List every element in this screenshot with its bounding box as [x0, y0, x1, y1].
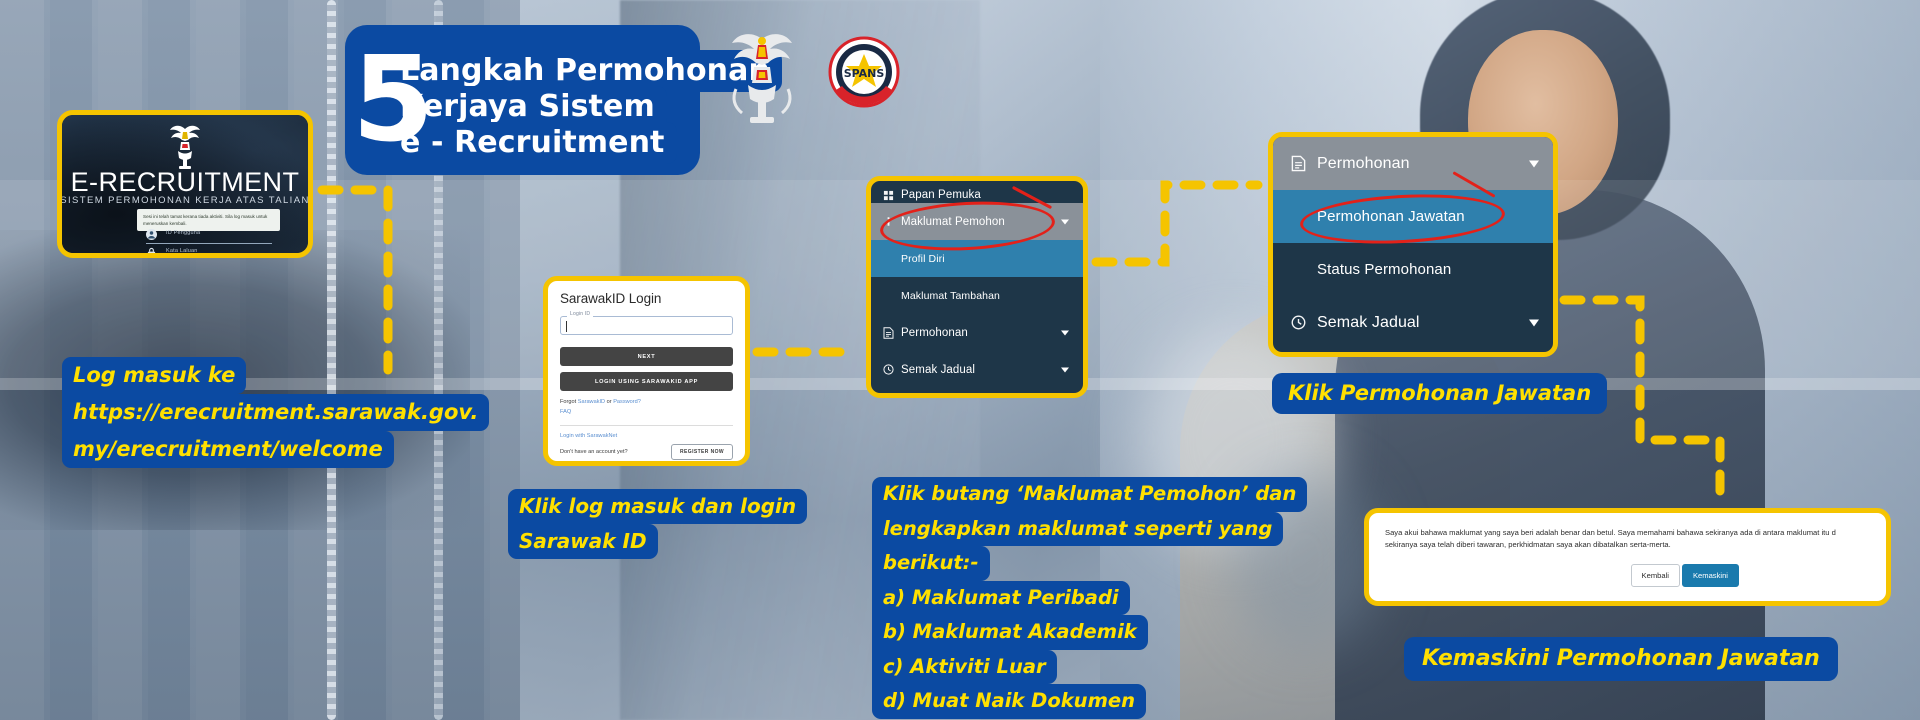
chevron-down-icon — [1061, 219, 1069, 224]
menu-label: Profil Diri — [883, 253, 945, 265]
dashboard-icon — [883, 190, 901, 201]
menu-label: Maklumat Tambahan — [883, 290, 1000, 302]
menu-label: Status Permohonan — [1291, 261, 1451, 278]
caption-step-3: Klik butang ‘Maklumat Pemohon’ dan lengk… — [872, 477, 1307, 719]
erec-password-field[interactable]: Kata Laluan — [146, 246, 272, 258]
menu-item-permohonan-jawatan[interactable]: Permohonan Jawatan — [1273, 190, 1553, 243]
header-title-line-3: e - Recruitment — [400, 122, 677, 164]
no-account-text: Don't have an account yet? — [560, 449, 628, 455]
sarawaknet-login-link[interactable]: Login with SarawakNet — [560, 433, 733, 439]
menu-item-maklumat-pemohon[interactable]: Maklumat Pemohon — [871, 203, 1083, 240]
caption-line: my/erecruitment/welcome — [62, 431, 394, 468]
menu-item-profil-diri[interactable]: Profil Diri — [871, 240, 1083, 277]
menu-item-status-permohonan[interactable]: Status Permohonan — [1273, 243, 1553, 296]
forgot-mid: or — [605, 399, 613, 405]
svg-text:SPANS: SPANS — [844, 67, 885, 80]
menu-label: Semak Jadual — [901, 364, 975, 376]
clock-icon — [883, 364, 901, 375]
caption-line: berikut:- — [872, 546, 990, 581]
menu-item-maklumat-tambahan[interactable]: Maklumat Tambahan — [871, 277, 1083, 314]
document-icon — [1291, 155, 1317, 172]
menu-item-permohonan[interactable]: Permohonan — [1273, 137, 1553, 190]
sarawakid-login-id-field[interactable]: Login ID — [560, 316, 733, 335]
sarawakid-login-card[interactable]: SarawakID Login Login ID NEXT LOGIN USIN… — [543, 276, 750, 466]
menu-item-semak-jadual[interactable]: Semak Jadual — [871, 351, 1083, 388]
clock-icon — [1291, 315, 1317, 330]
menu-label: Permohonan Jawatan — [1291, 208, 1465, 225]
forgot-prefix: Forgot — [560, 399, 578, 405]
dialog-button-row: Kembali Kemaskini — [1631, 564, 1739, 587]
menu-label: Maklumat Pemohon — [901, 216, 1005, 228]
erecruitment-login-screenshot[interactable]: E-RECRUITMENT SISTEM PERMOHONAN KERJA AT… — [57, 110, 313, 258]
caption-line: Sarawak ID — [508, 524, 658, 559]
erec-userid-label: ID Pengguna — [166, 230, 200, 236]
chevron-down-icon — [1529, 319, 1539, 326]
sarawak-crest-icon — [168, 121, 202, 171]
step-count-number: 5 — [352, 40, 422, 165]
caption-line: a) Maklumat Peribadi — [872, 581, 1130, 616]
chevron-down-icon — [1061, 367, 1069, 372]
caption-line: c) Aktiviti Luar — [872, 650, 1057, 685]
caption-line: Log masuk ke — [62, 357, 246, 394]
erec-title: E-RECRUITMENT — [71, 167, 300, 198]
text-caret — [566, 321, 567, 332]
applicant-menu-panel[interactable]: Papan Pemuka Maklumat Pemohon Profil Dir… — [866, 176, 1088, 398]
sarawakid-register-row: Don't have an account yet? REGISTER NOW — [560, 444, 733, 460]
caption-line: lengkapkan maklumat seperti yang — [872, 512, 1283, 547]
document-icon — [883, 327, 901, 339]
register-now-button[interactable]: REGISTER NOW — [671, 444, 733, 460]
menu-item-semak-jadual[interactable]: Semak Jadual — [1273, 296, 1553, 349]
kembali-button[interactable]: Kembali — [1631, 564, 1680, 587]
info-icon — [883, 216, 901, 227]
sarawakid-title: SarawakID Login — [560, 291, 733, 306]
user-circle-icon — [146, 229, 157, 240]
lock-icon — [146, 247, 157, 258]
caption-line: Klik log masuk dan login — [508, 489, 807, 524]
chevron-down-icon — [1061, 330, 1069, 335]
forgot-password-link[interactable]: Password? — [613, 399, 641, 405]
erec-password-label: Kata Laluan — [166, 248, 198, 254]
declaration-confirm-dialog[interactable]: Saya akui bahawa maklumat yang saya beri… — [1364, 508, 1891, 606]
divider — [560, 425, 733, 426]
sarawakid-login-id-label: Login ID — [567, 311, 593, 317]
declaration-line-2: sekiranya saya telah diberi tawaran, per… — [1385, 539, 1870, 551]
spans-logo-icon: SPANS — [828, 36, 900, 108]
caption-line: Klik butang ‘Maklumat Pemohon’ dan — [872, 477, 1307, 512]
chevron-down-icon — [1529, 160, 1539, 167]
erec-subtitle: SISTEM PERMOHONAN KERJA ATAS TALIAN — [60, 195, 309, 206]
sarawakid-next-button[interactable]: NEXT — [560, 347, 733, 366]
forgot-sarawakid-link[interactable]: SarawakID — [578, 399, 605, 405]
caption-line: https://erecruitment.sarawak.gov. — [62, 394, 489, 431]
menu-item-papan-pemuka[interactable]: Papan Pemuka — [871, 181, 1083, 203]
menu-label: Papan Pemuka — [901, 189, 981, 201]
menu-item-permohonan[interactable]: Permohonan — [871, 314, 1083, 351]
caption-step-2: Klik log masuk dan login Sarawak ID — [508, 489, 807, 559]
menu-label: Semak Jadual — [1317, 314, 1420, 332]
declaration-line-1: Saya akui bahawa maklumat yang saya beri… — [1385, 527, 1870, 539]
caption-step-4: Klik Permohonan Jawatan — [1272, 373, 1607, 414]
permohonan-menu-panel[interactable]: Permohonan Permohonan Jawatan Status Per… — [1268, 132, 1558, 357]
kemaskini-button[interactable]: Kemaskini — [1682, 564, 1739, 587]
sarawakid-app-login-button[interactable]: LOGIN USING SARAWAKID APP — [560, 372, 733, 391]
declaration-text: Saya akui bahawa maklumat yang saya beri… — [1385, 527, 1870, 551]
erec-userid-field[interactable]: ID Pengguna — [146, 228, 272, 244]
caption-line: d) Muat Naik Dokumen — [872, 684, 1146, 719]
faq-link[interactable]: FAQ — [560, 409, 571, 415]
caption-step-5: Kemaskini Permohonan Jawatan — [1404, 637, 1838, 681]
menu-label: Permohonan — [1317, 155, 1410, 173]
sarawak-state-crest-icon — [728, 25, 796, 130]
menu-label: Permohonan — [901, 327, 968, 339]
caption-line: b) Maklumat Akademik — [872, 615, 1148, 650]
sarawakid-help-links: Forgot SarawakID or Password? FAQ — [560, 397, 733, 417]
